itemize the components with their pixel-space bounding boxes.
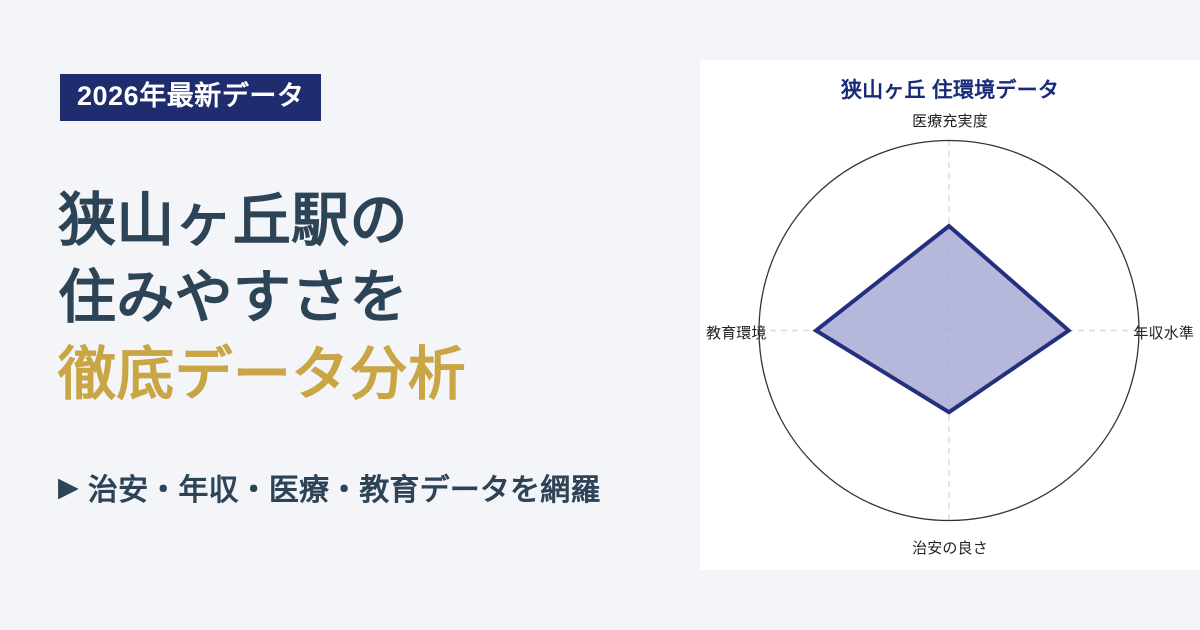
headline-line-3-accent: 徹底データ分析	[58, 336, 698, 413]
headline-line-2: 住みやすさを	[58, 259, 698, 336]
page-title: 狭山ヶ丘駅の 住みやすさを 徹底データ分析	[58, 182, 698, 413]
radar-chart-panel: 狭山ヶ丘 住環境データ 医療充実度 年収水準 治安の良さ 教育環境	[700, 60, 1200, 570]
latest-data-badge: 2026年最新データ	[60, 74, 321, 121]
subtitle-text: 治安・年収・医療・教育データを網羅	[88, 465, 601, 509]
headline-line-1: 狭山ヶ丘駅の	[58, 182, 698, 259]
radar-axis-label-income: 年収水準	[1133, 322, 1194, 343]
radar-chart-svg	[700, 60, 1200, 570]
radar-series-polygon	[816, 226, 1069, 412]
triangle-right-icon: ▶	[58, 474, 79, 501]
left-content-pane: 2026年最新データ 狭山ヶ丘駅の 住みやすさを 徹底データ分析 ▶ 治安・年収…	[0, 0, 700, 630]
radar-axis-label-medical: 医療充実度	[700, 110, 1200, 131]
radar-plot-area: 医療充実度 年収水準 治安の良さ 教育環境	[700, 60, 1200, 570]
ogp-banner: 2026年最新データ 狭山ヶ丘駅の 住みやすさを 徹底データ分析 ▶ 治安・年収…	[0, 0, 1200, 630]
subtitle: ▶ 治安・年収・医療・教育データを網羅	[58, 465, 600, 509]
radar-axis-label-education: 教育環境	[706, 322, 767, 343]
radar-axis-label-safety: 治安の良さ	[700, 537, 1200, 558]
